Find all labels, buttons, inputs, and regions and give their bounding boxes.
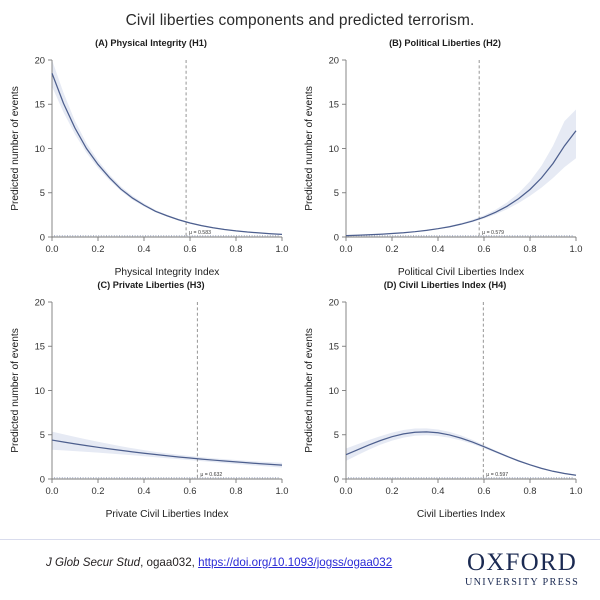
y-tick-label: 5: [334, 429, 339, 440]
y-axis-label: Predicted number of events: [10, 86, 21, 211]
y-tick-label: 10: [35, 385, 45, 396]
panel-b-title: (B) Political Liberties (H2): [300, 36, 590, 50]
y-tick-label: 20: [35, 296, 45, 307]
panel-a-title: (A) Physical Integrity (H1): [6, 36, 296, 50]
citation: J Glob Secur Stud, ogaa032, https://doi.…: [46, 556, 392, 569]
x-tick-label: 0.2: [91, 485, 104, 496]
y-tick-label: 0: [40, 231, 45, 242]
panel-b: (B) Political Liberties (H2) 051015200.0…: [300, 36, 590, 281]
y-tick-label: 5: [334, 187, 339, 198]
figure-title: Civil liberties components and predicted…: [0, 0, 600, 30]
x-tick-label: 0.6: [477, 485, 490, 496]
panel-a: (A) Physical Integrity (H1) 051015200.00…: [6, 36, 296, 281]
x-tick-label: 0.8: [523, 243, 536, 254]
confidence-band: [346, 110, 576, 236]
x-axis-label: Physical Integrity Index: [115, 267, 220, 278]
citation-doi-link[interactable]: https://doi.org/10.1093/jogss/ogaa032: [198, 556, 392, 569]
y-axis-label: Predicted number of events: [10, 328, 21, 453]
fitted-line: [52, 73, 282, 234]
x-tick-label: 1.0: [569, 485, 582, 496]
x-tick-label: 0.6: [183, 485, 196, 496]
panel-d: (D) Civil Liberties Index (H4) 051015200…: [300, 278, 590, 523]
x-tick-label: 0.4: [137, 485, 150, 496]
x-tick-label: 0.8: [229, 485, 242, 496]
mean-value-label: μ = 0.579: [482, 230, 504, 236]
y-tick-label: 0: [40, 473, 45, 484]
panel-c-plot: 051015200.00.20.40.60.81.0μ = 0.632Priva…: [6, 292, 296, 523]
x-tick-label: 1.0: [275, 485, 288, 496]
x-tick-label: 1.0: [569, 243, 582, 254]
panel-a-plot: 051015200.00.20.40.60.81.0μ = 0.583Physi…: [6, 50, 296, 281]
plot-area: 051015200.00.20.40.60.81.0μ = 0.597Civil…: [300, 292, 590, 523]
y-axis-label: Predicted number of events: [304, 86, 315, 211]
x-tick-label: 0.2: [385, 485, 398, 496]
footer: J Glob Secur Stud, ogaa032, https://doi.…: [0, 540, 600, 600]
x-tick-label: 0.2: [385, 243, 398, 254]
x-tick-label: 0.0: [339, 485, 352, 496]
y-tick-label: 5: [40, 187, 45, 198]
oxford-university-press-logo: OXFORD UNIVERSITY PRESS: [458, 550, 586, 590]
y-axis-label: Predicted number of events: [304, 328, 315, 453]
x-tick-label: 0.0: [45, 243, 58, 254]
mean-value-label: μ = 0.583: [189, 230, 211, 236]
logo-oxford-wordmark: OXFORD: [458, 550, 586, 576]
y-tick-label: 20: [329, 54, 339, 65]
citation-article: , ogaa032,: [140, 556, 198, 569]
y-tick-label: 5: [40, 429, 45, 440]
panel-d-plot: 051015200.00.20.40.60.81.0μ = 0.597Civil…: [300, 292, 590, 523]
panel-grid: (A) Physical Integrity (H1) 051015200.00…: [0, 30, 600, 525]
plot-area: 051015200.00.20.40.60.81.0μ = 0.579Polit…: [300, 50, 590, 281]
logo-university-press-text: UNIVERSITY PRESS: [458, 576, 586, 590]
x-axis-label: Private Civil Liberties Index: [106, 509, 229, 520]
x-axis-label: Civil Liberties Index: [417, 509, 505, 520]
panel-b-plot: 051015200.00.20.40.60.81.0μ = 0.579Polit…: [300, 50, 590, 281]
y-tick-label: 15: [35, 341, 45, 352]
y-tick-label: 10: [329, 143, 339, 154]
y-tick-label: 0: [334, 473, 339, 484]
x-tick-label: 0.0: [45, 485, 58, 496]
x-tick-label: 0.6: [183, 243, 196, 254]
citation-journal: J Glob Secur Stud: [46, 556, 140, 569]
y-tick-label: 10: [329, 385, 339, 396]
x-tick-label: 0.0: [339, 243, 352, 254]
y-tick-label: 10: [35, 143, 45, 154]
x-tick-label: 0.8: [229, 243, 242, 254]
panel-c-title: (C) Private Liberties (H3): [6, 278, 296, 292]
x-tick-label: 0.2: [91, 243, 104, 254]
mean-value-label: μ = 0.632: [200, 472, 222, 478]
x-tick-label: 0.8: [523, 485, 536, 496]
y-tick-label: 15: [35, 99, 45, 110]
x-tick-label: 1.0: [275, 243, 288, 254]
x-tick-label: 0.4: [137, 243, 150, 254]
y-tick-label: 15: [329, 341, 339, 352]
x-tick-label: 0.4: [431, 485, 444, 496]
plot-area: 051015200.00.20.40.60.81.0μ = 0.583Physi…: [6, 50, 296, 281]
y-tick-label: 15: [329, 99, 339, 110]
figure-container: Civil liberties components and predicted…: [0, 0, 600, 600]
y-tick-label: 20: [35, 54, 45, 65]
y-tick-label: 0: [334, 231, 339, 242]
mean-value-label: μ = 0.597: [486, 472, 508, 478]
x-tick-label: 0.4: [431, 243, 444, 254]
panel-c: (C) Private Liberties (H3) 051015200.00.…: [6, 278, 296, 523]
panel-d-title: (D) Civil Liberties Index (H4): [300, 278, 590, 292]
y-tick-label: 20: [329, 296, 339, 307]
x-tick-label: 0.6: [477, 243, 490, 254]
x-axis-label: Political Civil Liberties Index: [398, 267, 524, 278]
plot-area: 051015200.00.20.40.60.81.0μ = 0.632Priva…: [6, 292, 296, 523]
